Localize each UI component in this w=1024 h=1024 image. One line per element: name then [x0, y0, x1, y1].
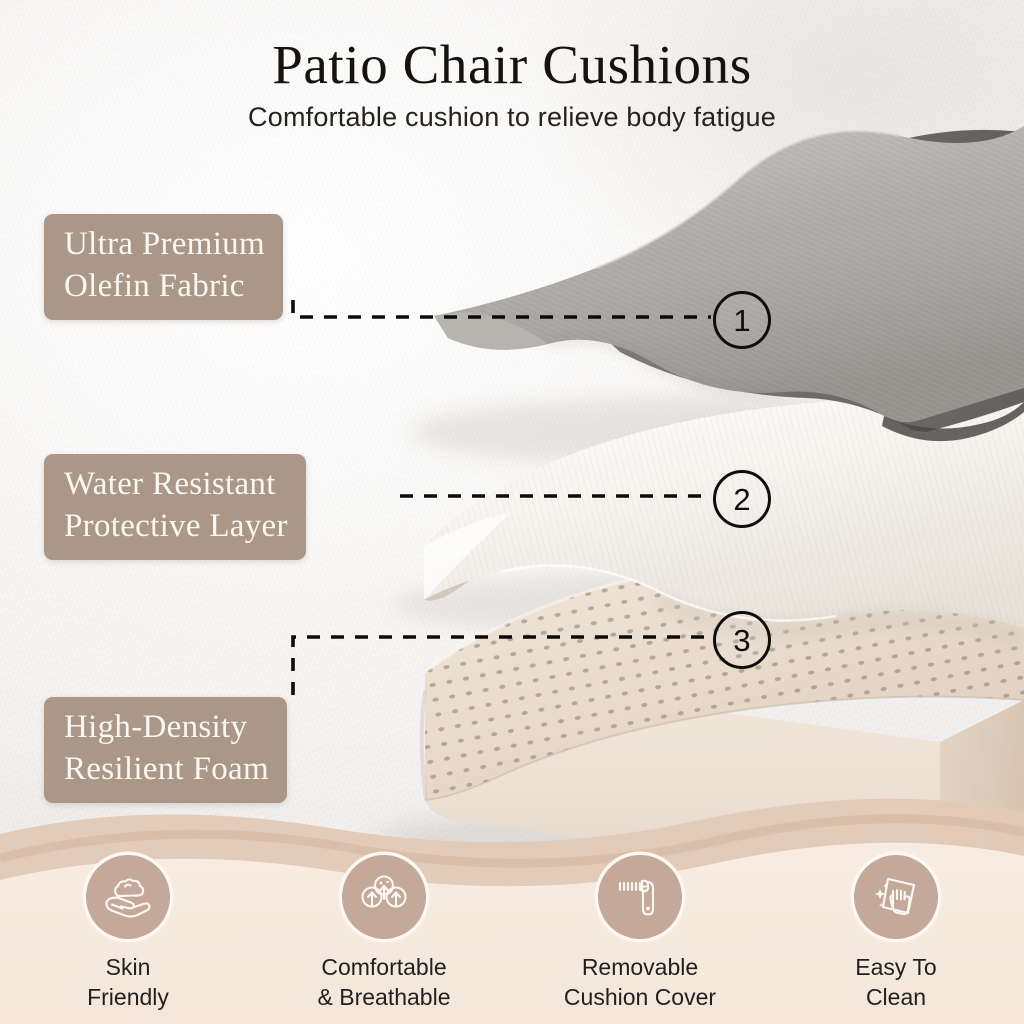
feature-item-easy-to-clean[interactable]: Easy To Clean [768, 855, 1024, 1012]
hand-wiping-cloth-icon [868, 869, 924, 925]
feature-icon-wrapper-4 [854, 855, 938, 939]
number-badge-3[interactable]: 3 [713, 611, 771, 669]
feature-item-comfortable-breathable[interactable]: Comfortable & Breathable [256, 855, 512, 1012]
feature-item-removable-cover[interactable]: Removable Cushion Cover [512, 855, 768, 1012]
number-badge-1[interactable]: 1 [713, 291, 771, 349]
feature-icon-wrapper-2 [342, 855, 426, 939]
feature-label-4: Easy To Clean [855, 953, 936, 1012]
feature-item-skin-friendly[interactable]: Skin Friendly [0, 855, 256, 1012]
feature-label-2: Comfortable & Breathable [318, 953, 451, 1012]
number-badge-2[interactable]: 2 [713, 470, 771, 528]
hand-holding-foam-icon [100, 869, 156, 925]
feature-band: Skin Friendly [0, 794, 1024, 1024]
cotton-breathable-arrows-icon [356, 869, 412, 925]
infographic-canvas: Ultra Premium Olefin Fabric Water Resist… [0, 0, 1024, 1024]
feature-icon-wrapper-1 [86, 855, 170, 939]
zipper-pull-icon [612, 869, 668, 925]
feature-list: Skin Friendly [0, 855, 1024, 1012]
feature-label-3: Removable Cushion Cover [564, 953, 716, 1012]
feature-label-1: Skin Friendly [87, 953, 169, 1012]
feature-icon-wrapper-3 [598, 855, 682, 939]
